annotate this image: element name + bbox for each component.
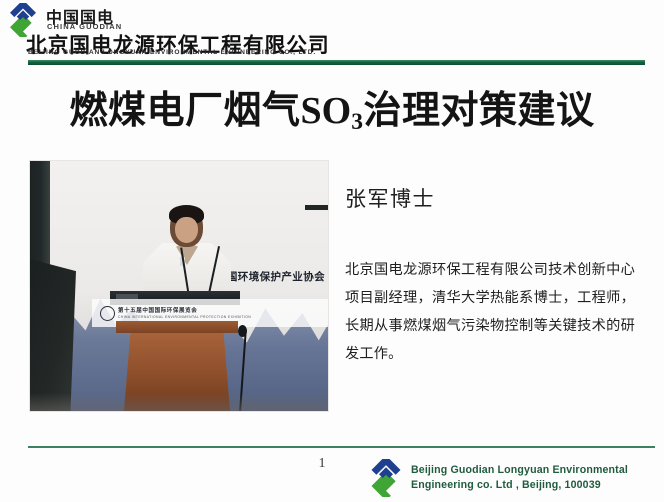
slide-header: 中国国电 CHINA GUODIAN 北京国电龙源环保工程有限公司 BEIJIN… bbox=[0, 0, 664, 64]
speaker-photo: 中国环境保护产业协会 第十五届中国国际环保展览会 CHINA INTERNATI… bbox=[30, 161, 328, 411]
photo-event-banner-subtext: CHINA INTERNATIONAL ENVIRONMENTAL PROTEC… bbox=[118, 315, 251, 319]
title-suffix: 治理对策建议 bbox=[363, 88, 594, 132]
page-number: 1 bbox=[310, 456, 334, 472]
footer-company-address: Beijing Guodian Longyuan Environmental E… bbox=[411, 463, 628, 492]
footer-company-line1: Beijing Guodian Longyuan Environmental bbox=[411, 463, 628, 478]
speaker-name: 张军博士 bbox=[345, 183, 435, 213]
title-prefix: 燃煤电厂烟气 bbox=[69, 88, 300, 132]
footer-guodian-diamond-logo-icon bbox=[367, 459, 405, 497]
footer-company-line2: Engineering co. Ltd , Beijing, 100039 bbox=[411, 478, 628, 493]
header-divider bbox=[28, 60, 645, 65]
photo-bottom-shadow bbox=[30, 393, 328, 411]
slide-root: 中国国电 CHINA GUODIAN 北京国电龙源环保工程有限公司 BEIJIN… bbox=[0, 0, 664, 502]
photo-event-logo-icon bbox=[100, 306, 115, 321]
speaker-bio: 北京国电龙源环保工程有限公司技术创新中心项目副经理，清华大学热能系博士，工程师，… bbox=[345, 256, 635, 368]
photo-podium-top bbox=[116, 321, 238, 333]
photo-dark-strip bbox=[305, 205, 328, 210]
company-name-en: BEIJING GUODIAN LONGYUAN ENVIRONMENTAL E… bbox=[28, 49, 316, 56]
photo-stage-panel-lower bbox=[30, 259, 76, 411]
photo-speaker-face bbox=[175, 217, 198, 243]
title-formula-subscript: 3 bbox=[351, 109, 363, 135]
photo-event-banner-text: 第十五届中国国际环保展览会 bbox=[118, 306, 197, 314]
footer-divider bbox=[28, 446, 655, 448]
page-title: 燃煤电厂烟气SO3治理对策建议 bbox=[0, 79, 664, 134]
title-formula-base: SO bbox=[301, 90, 352, 132]
photo-backdrop-text: 中国环境保护产业协会 bbox=[216, 269, 325, 284]
